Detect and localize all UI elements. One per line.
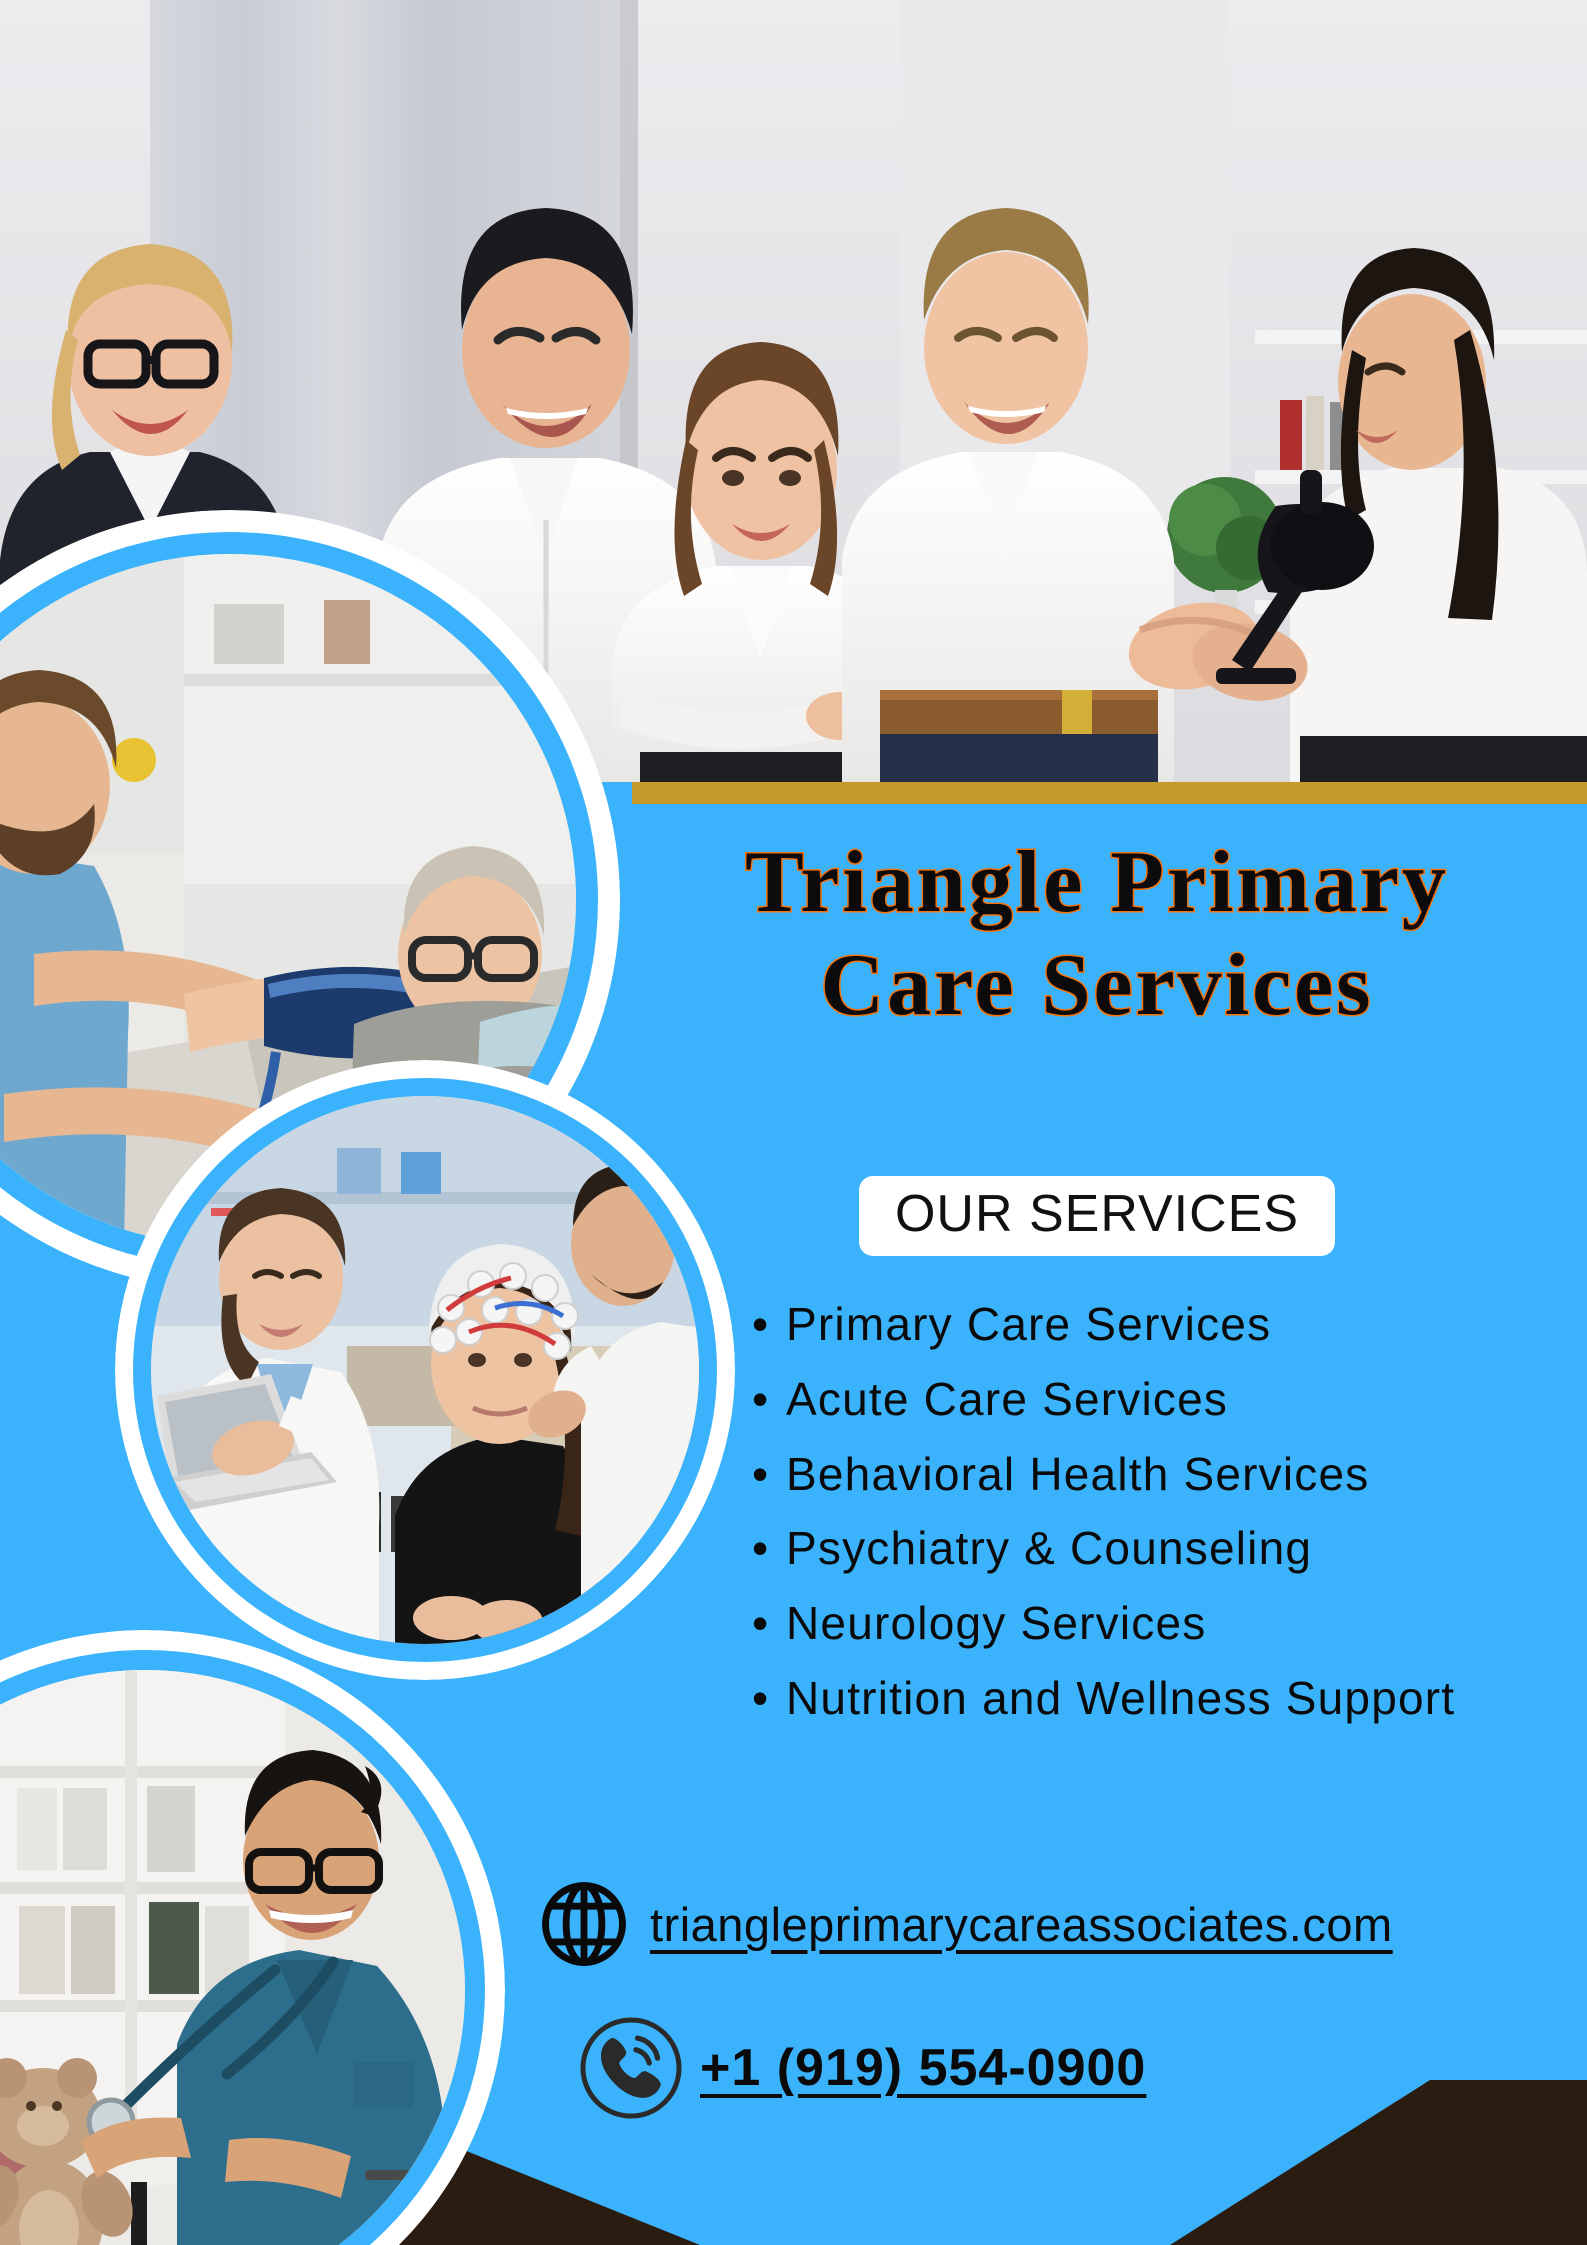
service-label: Behavioral Health Services	[786, 1450, 1542, 1499]
service-item-behavioral-health: • Behavioral Health Services	[752, 1450, 1542, 1499]
service-item-primary-care: • Primary Care Services	[752, 1300, 1542, 1349]
service-label: Nutrition and Wellness Support	[786, 1674, 1542, 1723]
circle-photo-pediatric	[0, 1630, 505, 2245]
title-line-2: Care Services	[632, 935, 1562, 1038]
contact-website-row[interactable]: triangleprimarycareassociates.com	[540, 1880, 1393, 1968]
bullet-icon: •	[752, 1450, 786, 1499]
poster-title: Triangle Primary Care Services	[632, 832, 1562, 1038]
service-label: Acute Care Services	[786, 1375, 1542, 1424]
website-link[interactable]: triangleprimarycareassociates.com	[650, 1897, 1393, 1952]
bullet-icon: •	[752, 1375, 786, 1424]
circle-photo-neurology	[115, 1060, 735, 1680]
poster-root: Triangle Primary Care Services OUR SERVI…	[0, 0, 1587, 2245]
title-line-1: Triangle Primary	[632, 832, 1562, 935]
bullet-icon: •	[752, 1674, 786, 1723]
phone-link[interactable]: +1 (919) 554-0900	[700, 2038, 1146, 2098]
globe-icon	[540, 1880, 628, 1968]
service-label: Neurology Services	[786, 1599, 1542, 1648]
service-label: Primary Care Services	[786, 1300, 1542, 1349]
bullet-icon: •	[752, 1524, 786, 1573]
service-item-neurology: • Neurology Services	[752, 1599, 1542, 1648]
service-item-nutrition-wellness: • Nutrition and Wellness Support	[752, 1674, 1542, 1723]
gold-divider-bar	[632, 782, 1587, 804]
service-label: Psychiatry & Counseling	[786, 1524, 1542, 1573]
services-list: • Primary Care Services • Acute Care Ser…	[752, 1300, 1542, 1749]
bullet-icon: •	[752, 1300, 786, 1349]
service-item-acute-care: • Acute Care Services	[752, 1375, 1542, 1424]
neurology-eeg-photo	[151, 1096, 699, 1644]
services-heading-badge: OUR SERVICES	[859, 1176, 1335, 1256]
phone-icon	[578, 2015, 684, 2121]
services-heading-wrap: OUR SERVICES	[632, 1176, 1562, 1256]
contact-phone-row[interactable]: +1 (919) 554-0900	[578, 2015, 1146, 2121]
bullet-icon: •	[752, 1599, 786, 1648]
service-item-psychiatry-counseling: • Psychiatry & Counseling	[752, 1524, 1542, 1573]
